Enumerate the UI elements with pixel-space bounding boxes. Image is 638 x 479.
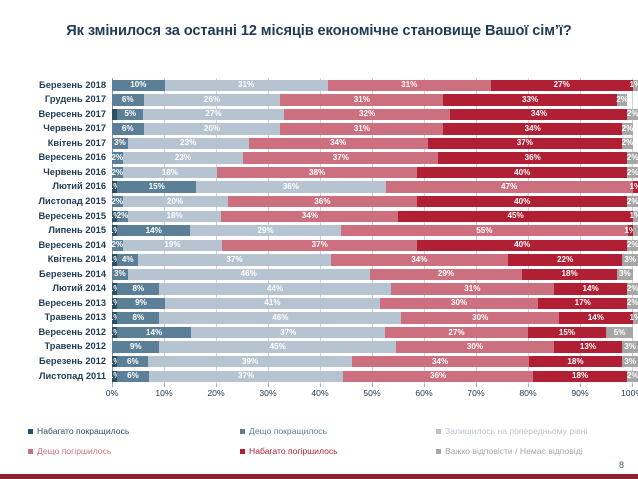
chart-row: Вересень 20151%2%18%34%45%1% [0,209,638,224]
x-axis-tick-mark [216,384,217,387]
chart-row: Вересень 20175%27%32%34%2% [0,107,638,122]
legend-swatch-icon [436,429,441,434]
chart-bar-segment: 6% [117,371,149,382]
page-number: 8 [619,460,624,470]
chart-bar-segment: 8% [117,283,159,294]
chart-bar-segment: 1% [633,211,638,222]
chart-bar-segment: 26% [144,94,281,105]
chart-bar-track: 2%23%37%36%2% [112,152,638,163]
chart-bar-track: 1%8%44%31%14%2% [112,283,638,294]
x-axis-tick-label: 50% [363,388,380,398]
chart-bar-segment: 38% [217,167,417,178]
chart-bar-segment: 31% [391,283,554,294]
chart-row: Вересень 20142%19%37%40%2% [0,238,638,253]
chart-bar-segment: 34% [221,211,398,222]
chart-bar-segment: 34% [450,109,627,120]
chart-row: Березень 20143%46%29%18%3% [0,267,638,282]
chart-category-label: Вересень 2017 [0,110,112,119]
chart-bar-segment: 37% [191,327,386,338]
chart-bar-segment: 23% [128,138,249,149]
chart-bar-segment: 18% [529,356,623,367]
legend-label: Залишилось на попередньому рівні [445,426,587,436]
chart-bar-segment: 2% [117,211,128,222]
legend-swatch-icon [28,449,33,454]
chart-category-label: Вересень 2015 [0,212,112,221]
chart-row: Листопад 20111%6%37%36%18%2% [0,369,638,384]
chart-bar-segment: 2% [627,371,638,382]
chart-bar-track: 2%19%37%40%2% [112,240,638,251]
chart-bar-segment: 3% [617,269,633,280]
chart-bar-segment: 3% [622,341,638,352]
chart-bar-segment: 36% [343,371,532,382]
chart-category-label: Вересень 2014 [0,241,112,250]
chart-bar-segment: 1% [633,80,638,91]
chart-row: Липень 20151%14%29%55%1% [0,223,638,238]
chart-bar-segment: 2% [627,109,638,120]
chart-bar-segment: 2% [627,283,638,294]
chart-category-label: Липень 2015 [0,226,112,235]
chart-bar-segment: 2% [627,196,638,207]
chart-bar-track: 6%26%31%33%2% [112,94,638,105]
chart-bar-segment: 2% [627,152,638,163]
chart-bar-segment: 36% [228,196,417,207]
chart-bar-segment: 46% [159,312,401,323]
chart-bar-track: 1%14%37%27%15%5% [112,327,638,338]
chart-category-label: Лютий 2014 [0,284,112,293]
chart-bar-segment: 30% [396,341,554,352]
page-title: Як змінилося за останні 12 місяців еконо… [24,22,614,41]
chart-bar-segment: 31% [328,80,491,91]
chart-row: Березень 20121%6%39%34%18%3% [0,354,638,369]
chart-bar-segment: 5% [117,109,143,120]
chart-bar-segment: 29% [190,225,341,236]
chart-bar-track: 1%14%29%55%1% [112,225,638,236]
chart-bar-track: 2%20%36%40%2% [112,196,638,207]
chart-bar-segment: 40% [417,240,627,251]
chart-category-label: Травень 2012 [0,342,112,351]
legend-label: Дещо погіршилось [37,446,111,456]
chart-bar-segment: 8% [117,312,159,323]
chart-bar-segment: 10% [112,80,165,91]
chart-bar-segment: 2% [112,196,123,207]
chart-bar-segment: 4% [117,254,138,265]
chart-bar-track: 3%23%34%37%2% [112,138,638,149]
x-axis-tick-label: 40% [311,388,328,398]
chart-bar-track: 1%15%36%47%1% [112,181,638,192]
x-axis-tick-mark [632,384,633,387]
chart-bar-segment: 32% [284,109,451,120]
legend-label: Набагато погіршилось [249,446,338,456]
stacked-bar-chart: Березень 201810%31%31%27%1%Грудень 20176… [0,78,638,408]
chart-bar-segment: 27% [385,327,527,338]
chart-bar-track: 1%9%41%30%17%2% [112,298,638,309]
chart-bar-segment: 34% [352,356,529,367]
x-axis-tick-label: 0% [106,388,118,398]
chart-bar-track: 9%45%30%13%3% [112,341,638,352]
x-axis-tick-label: 70% [467,388,484,398]
legend-label: Дещо покращилось [249,426,327,436]
chart-category-label: Квітень 2017 [0,139,112,148]
legend-label: Набагато покращилось [37,426,129,436]
chart-bar-segment: 41% [165,298,381,309]
chart-bar-segment: 3% [622,356,638,367]
chart-bar-segment: 2% [622,138,633,149]
chart-bar-segment: 6% [112,94,144,105]
chart-bar-segment: 17% [538,298,627,309]
chart-bar-track: 1%4%37%34%22%3% [112,254,638,265]
chart-plot-rows: Березень 201810%31%31%27%1%Грудень 20176… [0,78,638,383]
chart-bar-segment: 2% [627,298,638,309]
chart-bar-segment: 18% [123,167,218,178]
chart-bar-segment: 18% [522,269,617,280]
chart-bar-segment: 3% [622,254,638,265]
chart-bar-segment: 37% [428,138,623,149]
x-axis-tick-label: 60% [415,388,432,398]
x-axis-tick-mark [424,384,425,387]
chart-bar-segment: 15% [528,327,607,338]
chart-legend: Набагато покращилосьДещо покращилосьЗали… [28,421,628,461]
chart-bar-segment [633,225,638,236]
chart-bar-segment: 20% [123,196,228,207]
chart-bar-segment: 22% [508,254,623,265]
chart-category-label: Березень 2018 [0,81,112,90]
footer-accent-bar [0,474,638,479]
chart-category-label: Листопад 2015 [0,197,112,206]
x-axis-tick-label: 20% [207,388,224,398]
x-axis-tick-mark [268,384,269,387]
chart-bar-track: 3%46%29%18%3% [112,269,638,280]
chart-bar-segment: 44% [159,283,390,294]
chart-bar-segment: 40% [417,167,627,178]
chart-bar-segment: 2% [617,94,628,105]
chart-bar-segment: 37% [243,152,438,163]
chart-row: Листопад 20152%20%36%40%2% [0,194,638,209]
chart-bar-track: 1%8%46%30%14%1% [112,312,638,323]
chart-bar-segment: 31% [280,94,443,105]
chart-bar-segment: 3% [112,269,128,280]
chart-category-label: Квітень 2014 [0,255,112,264]
chart-bar-segment: 40% [417,196,627,207]
chart-bar-segment: 39% [148,356,351,367]
chart-bar-segment: 6% [117,356,148,367]
chart-category-label: Вересень 2016 [0,153,112,162]
chart-bar-segment: 37% [138,254,331,265]
legend-swatch-icon [240,449,245,454]
legend-item[interactable]: Набагато покращилось [28,426,240,436]
chart-category-label: Червень 2016 [0,168,112,177]
chart-bar-segment: 2% [112,240,123,251]
chart-bar-track: 10%31%31%27%1% [112,80,638,91]
x-axis-tick-label: 80% [519,388,536,398]
chart-row: Червень 20162%18%38%40%2% [0,165,638,180]
legend-item[interactable]: Дещо погіршилось [28,446,240,456]
chart-bar-track: 5%27%32%34%2% [112,109,638,120]
x-axis-tick-mark [320,384,321,387]
chart-bar-segment: 2% [622,123,633,134]
chart-bar-segment: 1% [633,181,638,192]
chart-row: Квітень 20173%23%34%37%2% [0,136,638,151]
chart-bar-segment: 6% [112,123,144,134]
chart-row: Вересень 20131%9%41%30%17%2% [0,296,638,311]
chart-bar-segment: 34% [331,254,508,265]
chart-category-label: Листопад 2011 [0,372,112,381]
chart-bar-segment: 33% [443,94,617,105]
chart-bar-segment: 26% [144,123,281,134]
chart-category-label: Березень 2014 [0,270,112,279]
x-axis-tick-mark [476,384,477,387]
chart-bar-segment: 31% [280,123,443,134]
x-axis-tick-mark [528,384,529,387]
chart-bar-segment: 30% [380,298,538,309]
chart-bar-track: 1%6%39%34%18%3% [112,356,638,367]
chart-bar-segment: 2% [112,167,123,178]
chart-bar-segment: 14% [117,225,190,236]
legend-item[interactable]: Дещо покращилось [240,426,436,436]
chart-bar-track: 1%6%37%36%18%2% [112,371,638,382]
chart-row: Квітень 20141%4%37%34%22%3% [0,253,638,268]
chart-row: Вересень 20162%23%37%36%2% [0,151,638,166]
chart-bar-segment: 2% [627,240,638,251]
x-axis-tick-mark [164,384,165,387]
chart-category-label: Червень 2017 [0,124,112,133]
chart-category-label: Березень 2012 [0,357,112,366]
chart-category-label: Лютий 2016 [0,182,112,191]
chart-bar-segment: 34% [443,123,622,134]
chart-row: Березень 201810%31%31%27%1% [0,78,638,93]
chart-bar-segment: 31% [165,80,328,91]
chart-bar-track: 1%2%18%34%45%1% [112,211,638,222]
legend-item[interactable]: Набагато погіршилось [240,446,436,456]
chart-bar-segment: 19% [123,240,223,251]
x-axis-tick-label: 100% [621,388,638,398]
chart-row: Вересень 20121%14%37%27%15%5% [0,325,638,340]
chart-bar-segment: 37% [222,240,417,251]
chart-bar-segment: 37% [149,371,344,382]
legend-item[interactable]: Важко відповісти / Немає відповіді [436,446,628,456]
chart-bar-segment: 14% [117,327,191,338]
x-axis-tick-label: 10% [155,388,172,398]
chart-category-label: Вересень 2012 [0,328,112,337]
legend-swatch-icon [28,429,33,434]
legend-item[interactable]: Залишилось на попередньому рівні [436,426,628,436]
chart-bar-segment: 13% [554,341,622,352]
chart-category-label: Вересень 2013 [0,299,112,308]
chart-bar-segment: 18% [128,211,222,222]
x-axis-tick-label: 90% [571,388,588,398]
chart-bar-segment: 36% [438,152,627,163]
chart-bar-segment: 29% [370,269,523,280]
chart-row: Лютий 20141%8%44%31%14%2% [0,282,638,297]
chart-bar-segment: 45% [159,341,396,352]
x-axis-tick-label: 30% [259,388,276,398]
chart-bar-segment: 30% [401,312,559,323]
chart-bar-segment: 14% [554,283,628,294]
legend-label: Важко відповісти / Немає відповіді [445,446,583,456]
chart-row: Травень 20131%8%46%30%14%1% [0,311,638,326]
slide-root: Як змінилося за останні 12 місяців еконо… [0,0,638,479]
chart-bar-segment: 34% [249,138,428,149]
chart-bar-segment: 9% [117,298,164,309]
chart-bar-segment: 9% [112,341,159,352]
chart-bar-segment: 27% [491,80,633,91]
chart-bar-segment: 5% [606,327,632,338]
chart-category-label: Грудень 2017 [0,95,112,104]
chart-x-axis: 0%10%20%30%40%50%60%70%80%90%100% [112,384,632,404]
chart-bar-segment: 3% [112,138,128,149]
x-axis-tick-mark [112,384,113,387]
chart-bar-segment: 27% [143,109,284,120]
chart-row: Червень 20176%26%31%34%2% [0,122,638,137]
chart-bar-segment: 23% [123,152,244,163]
chart-bar-segment: 46% [128,269,370,280]
chart-row: Травень 20129%45%30%13%3% [0,340,638,355]
legend-swatch-icon [240,429,245,434]
x-axis-tick-mark [372,384,373,387]
x-axis-tick-mark [580,384,581,387]
chart-bar-segment: 2% [112,152,123,163]
chart-row: Лютий 20161%15%36%47%1% [0,180,638,195]
chart-bar-segment: 14% [559,312,633,323]
chart-bar-segment: 45% [398,211,632,222]
chart-bar-segment: 55% [341,225,627,236]
chart-category-label: Травень 2013 [0,313,112,322]
chart-bar-segment: 36% [196,181,385,192]
chart-bar-segment: 47% [386,181,633,192]
chart-row: Грудень 20176%26%31%33%2% [0,93,638,108]
chart-bar-segment: 1% [633,312,638,323]
chart-bar-segment: 2% [627,167,638,178]
chart-bar-segment: 18% [533,371,628,382]
chart-bar-track: 2%18%38%40%2% [112,167,638,178]
chart-bar-track: 6%26%31%34%2% [112,123,638,134]
legend-swatch-icon [436,449,441,454]
chart-bar-segment: 15% [117,181,196,192]
